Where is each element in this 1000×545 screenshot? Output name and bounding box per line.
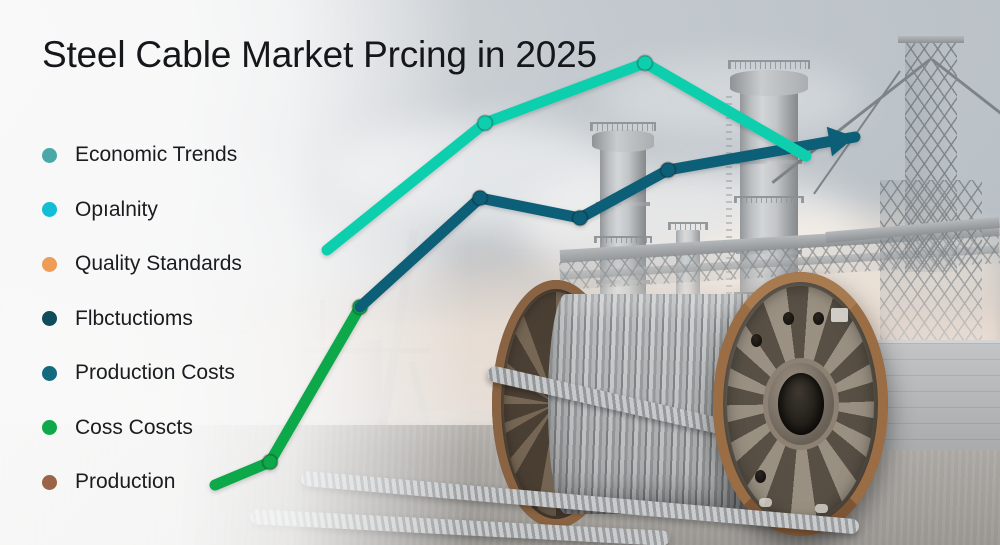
legend-dot-icon <box>42 257 57 272</box>
page-title: Steel Cable Market Prcing in 2025 <box>42 34 597 76</box>
chart-data-point[interactable] <box>473 191 488 206</box>
chart-data-point[interactable] <box>661 163 676 178</box>
legend-item-label: Coss Coscts <box>75 416 193 440</box>
legend-item-label: Opıalnity <box>75 198 158 222</box>
legend-dot-icon <box>42 420 57 435</box>
legend-item[interactable]: Economic Trends <box>42 128 372 183</box>
legend-item[interactable]: Production Costs <box>42 346 372 401</box>
legend-item-label: Economic Trends <box>75 143 237 167</box>
chart-data-point[interactable] <box>573 211 588 226</box>
legend-item-label: Production <box>75 470 175 494</box>
legend-item[interactable]: Quality Standards <box>42 237 372 292</box>
legend-item[interactable]: Opıalnity <box>42 183 372 238</box>
legend-item[interactable]: Coss Coscts <box>42 401 372 456</box>
chart-data-point[interactable] <box>478 116 493 131</box>
legend-item[interactable]: Flbctuctioms <box>42 292 372 347</box>
legend-dot-icon <box>42 366 57 381</box>
legend-dot-icon <box>42 475 57 490</box>
chart-data-point[interactable] <box>638 56 653 71</box>
legend-dot-icon <box>42 202 57 217</box>
legend-item-label: Quality Standards <box>75 252 242 276</box>
poster-canvas: Steel Cable Market Prcing in 2025 Econom… <box>0 0 1000 545</box>
legend-dot-icon <box>42 311 57 326</box>
chart-legend: Economic Trends Opıalnity Quality Standa… <box>42 128 372 510</box>
legend-dot-icon <box>42 148 57 163</box>
legend-item-label: Production Costs <box>75 361 235 385</box>
legend-item[interactable]: Production <box>42 455 372 510</box>
legend-item-label: Flbctuctioms <box>75 307 193 331</box>
